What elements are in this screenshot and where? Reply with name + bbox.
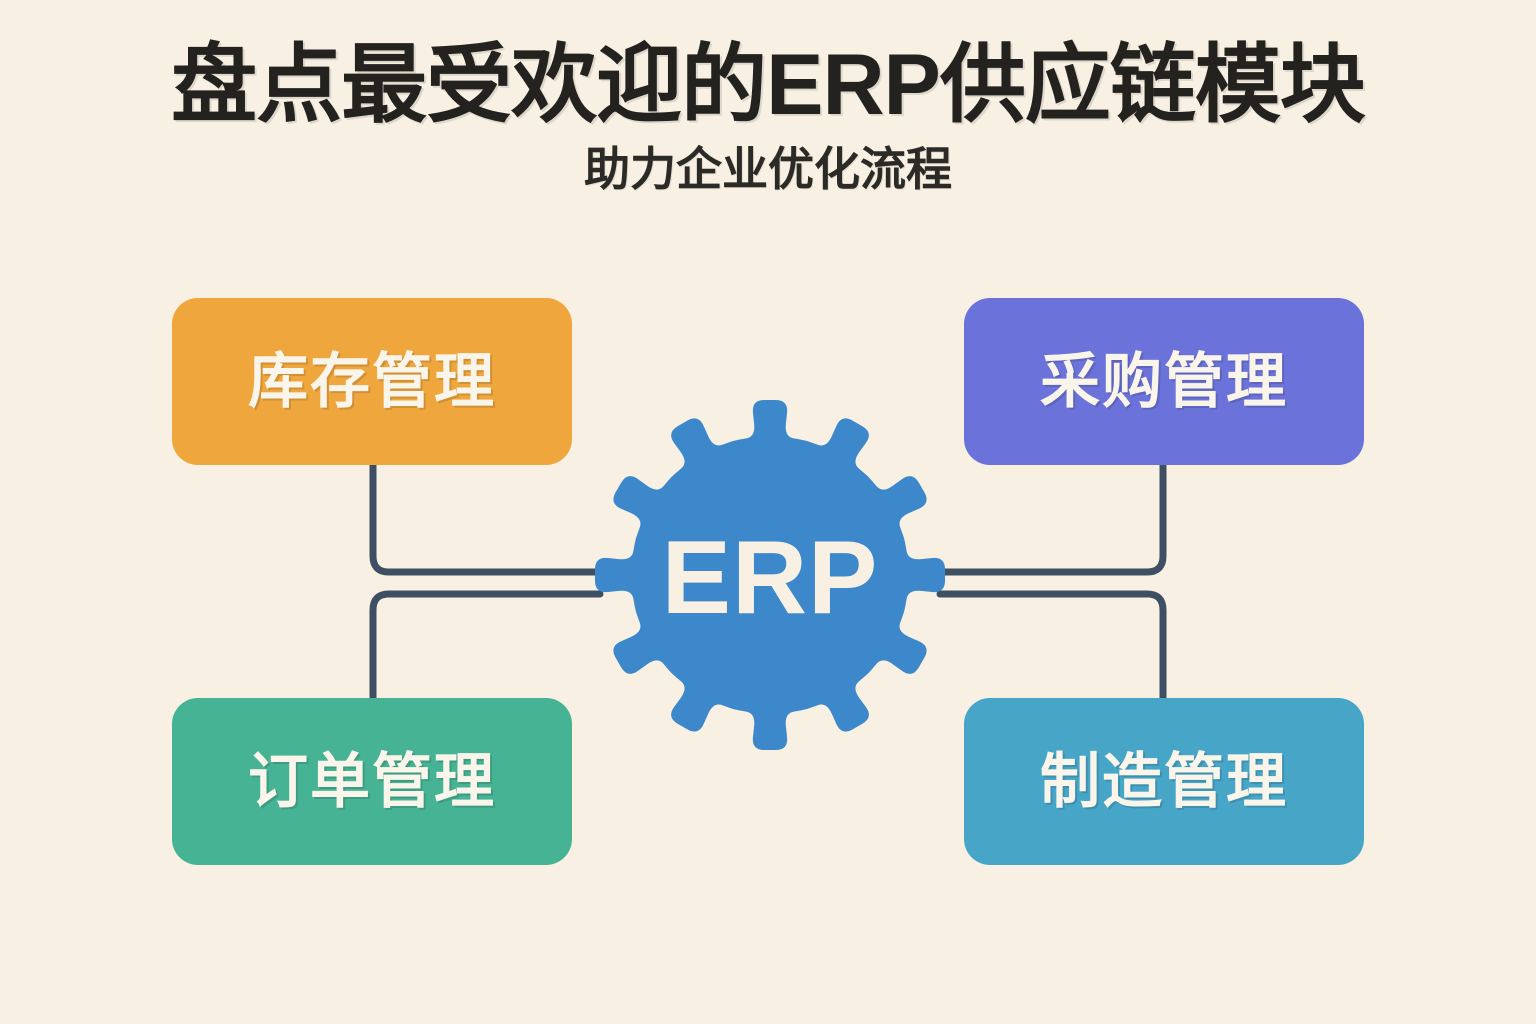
module-card-manufacture[interactable]: 制造管理 — [964, 698, 1364, 865]
module-label-manufacture: 制造管理 — [1040, 752, 1288, 812]
erp-label: ERP — [662, 520, 879, 636]
module-label-inventory: 库存管理 — [248, 352, 496, 412]
connector-inventory — [373, 465, 600, 572]
erp-center-node[interactable]: ERP — [588, 398, 952, 752]
connector-manufacture — [940, 594, 1163, 698]
header: 盘点最受欢迎的ERP供应链模块 助力企业优化流程 — [0, 0, 1536, 195]
module-card-inventory[interactable]: 库存管理 — [172, 298, 572, 465]
page-title: 盘点最受欢迎的ERP供应链模块 — [0, 40, 1536, 130]
module-card-procurement[interactable]: 采购管理 — [964, 298, 1364, 465]
gear-icon: ERP — [588, 398, 952, 752]
page-subtitle: 助力企业优化流程 — [0, 144, 1536, 195]
module-label-order: 订单管理 — [248, 752, 496, 812]
connector-procurement — [940, 465, 1163, 572]
module-card-order[interactable]: 订单管理 — [172, 698, 572, 865]
infographic-canvas: 盘点最受欢迎的ERP供应链模块 助力企业优化流程 ERP 库存管理 采购管理 订… — [0, 0, 1536, 1024]
connector-order — [373, 594, 600, 698]
module-label-procurement: 采购管理 — [1040, 352, 1288, 412]
